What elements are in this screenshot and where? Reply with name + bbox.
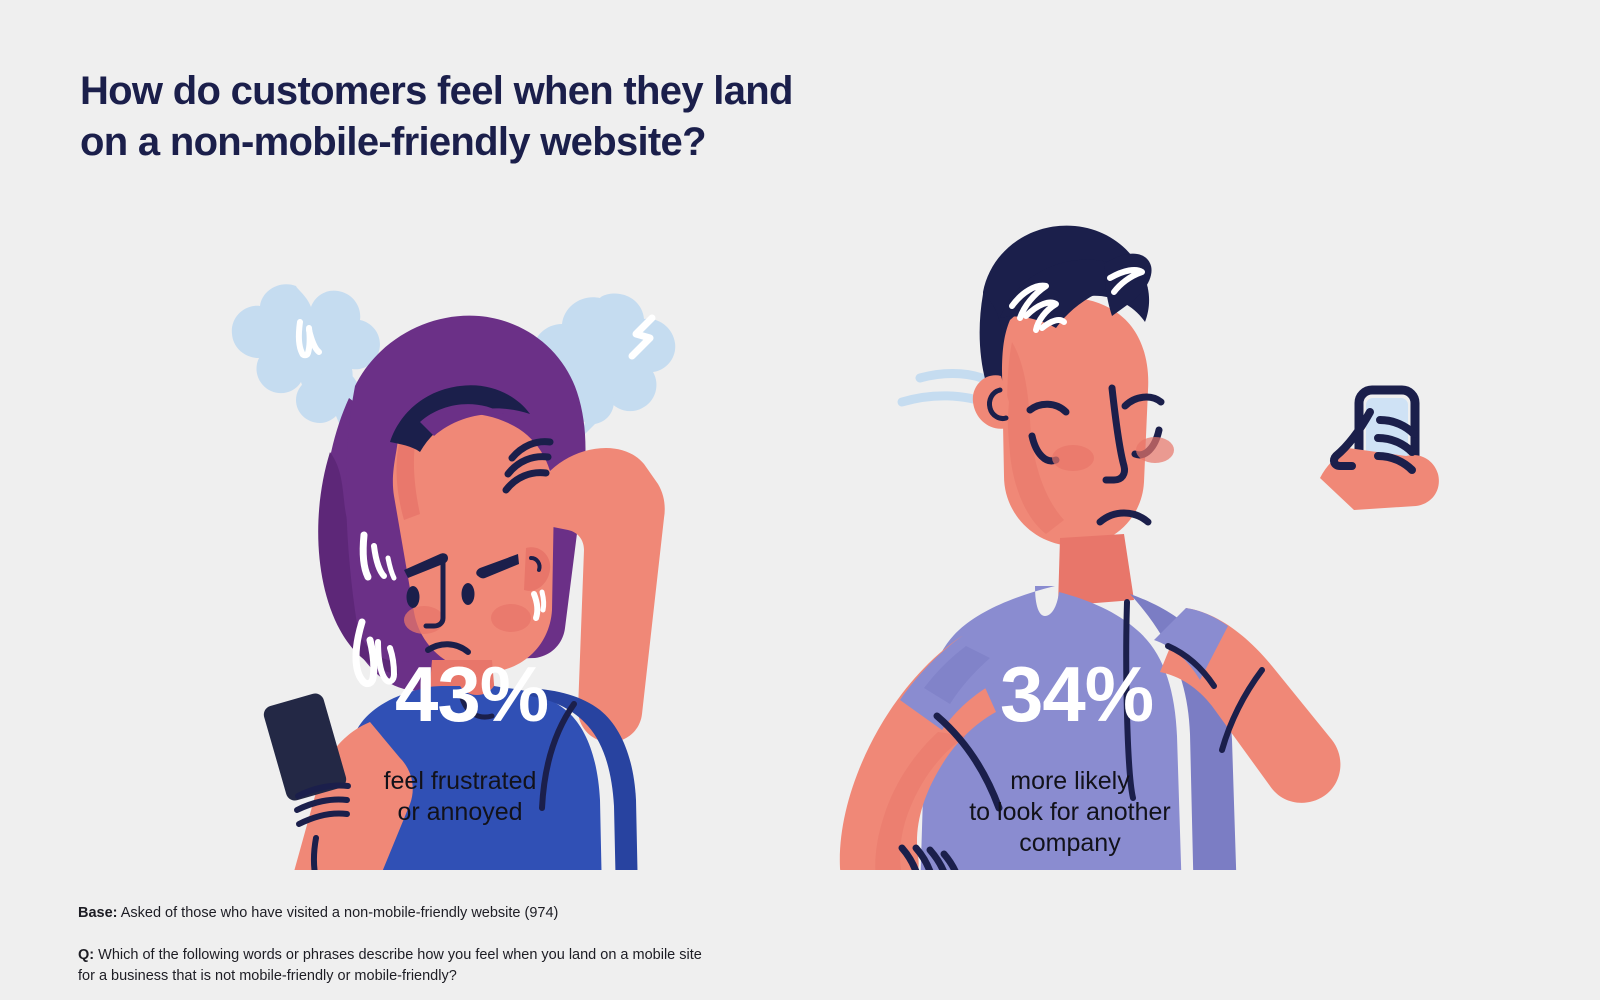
- stat-value-switch-company: 34%: [1000, 655, 1153, 733]
- man-blush-left: [1052, 445, 1094, 471]
- stat-caption-frustrated: feel frustrated or annoyed: [300, 766, 620, 828]
- footer-notes: Base: Asked of those who have visited a …: [78, 882, 702, 987]
- footer-base-text: Asked of those who have visited a non-mo…: [118, 905, 559, 921]
- illustration-stage: [0, 190, 1600, 870]
- footer-question-text: Which of the following words or phrases …: [78, 947, 702, 984]
- footer-question-row: Q: Which of the following words or phras…: [78, 924, 702, 987]
- blush-right: [491, 604, 531, 632]
- footer-base-label: Base:: [78, 905, 118, 921]
- blush-left: [404, 606, 444, 634]
- stat-value-frustrated: 43%: [395, 655, 548, 733]
- page-title: How do customers feel when they land on …: [80, 66, 793, 168]
- footer-base-row: Base: Asked of those who have visited a …: [78, 882, 702, 924]
- eye-left: [407, 586, 420, 608]
- eye-right: [462, 583, 475, 605]
- footer-question-label: Q:: [78, 947, 94, 963]
- man-blush-right: [1136, 437, 1174, 463]
- stat-caption-switch-company: more likely to look for another company: [895, 766, 1245, 859]
- infographic-page: How do customers feel when they land on …: [0, 0, 1600, 1000]
